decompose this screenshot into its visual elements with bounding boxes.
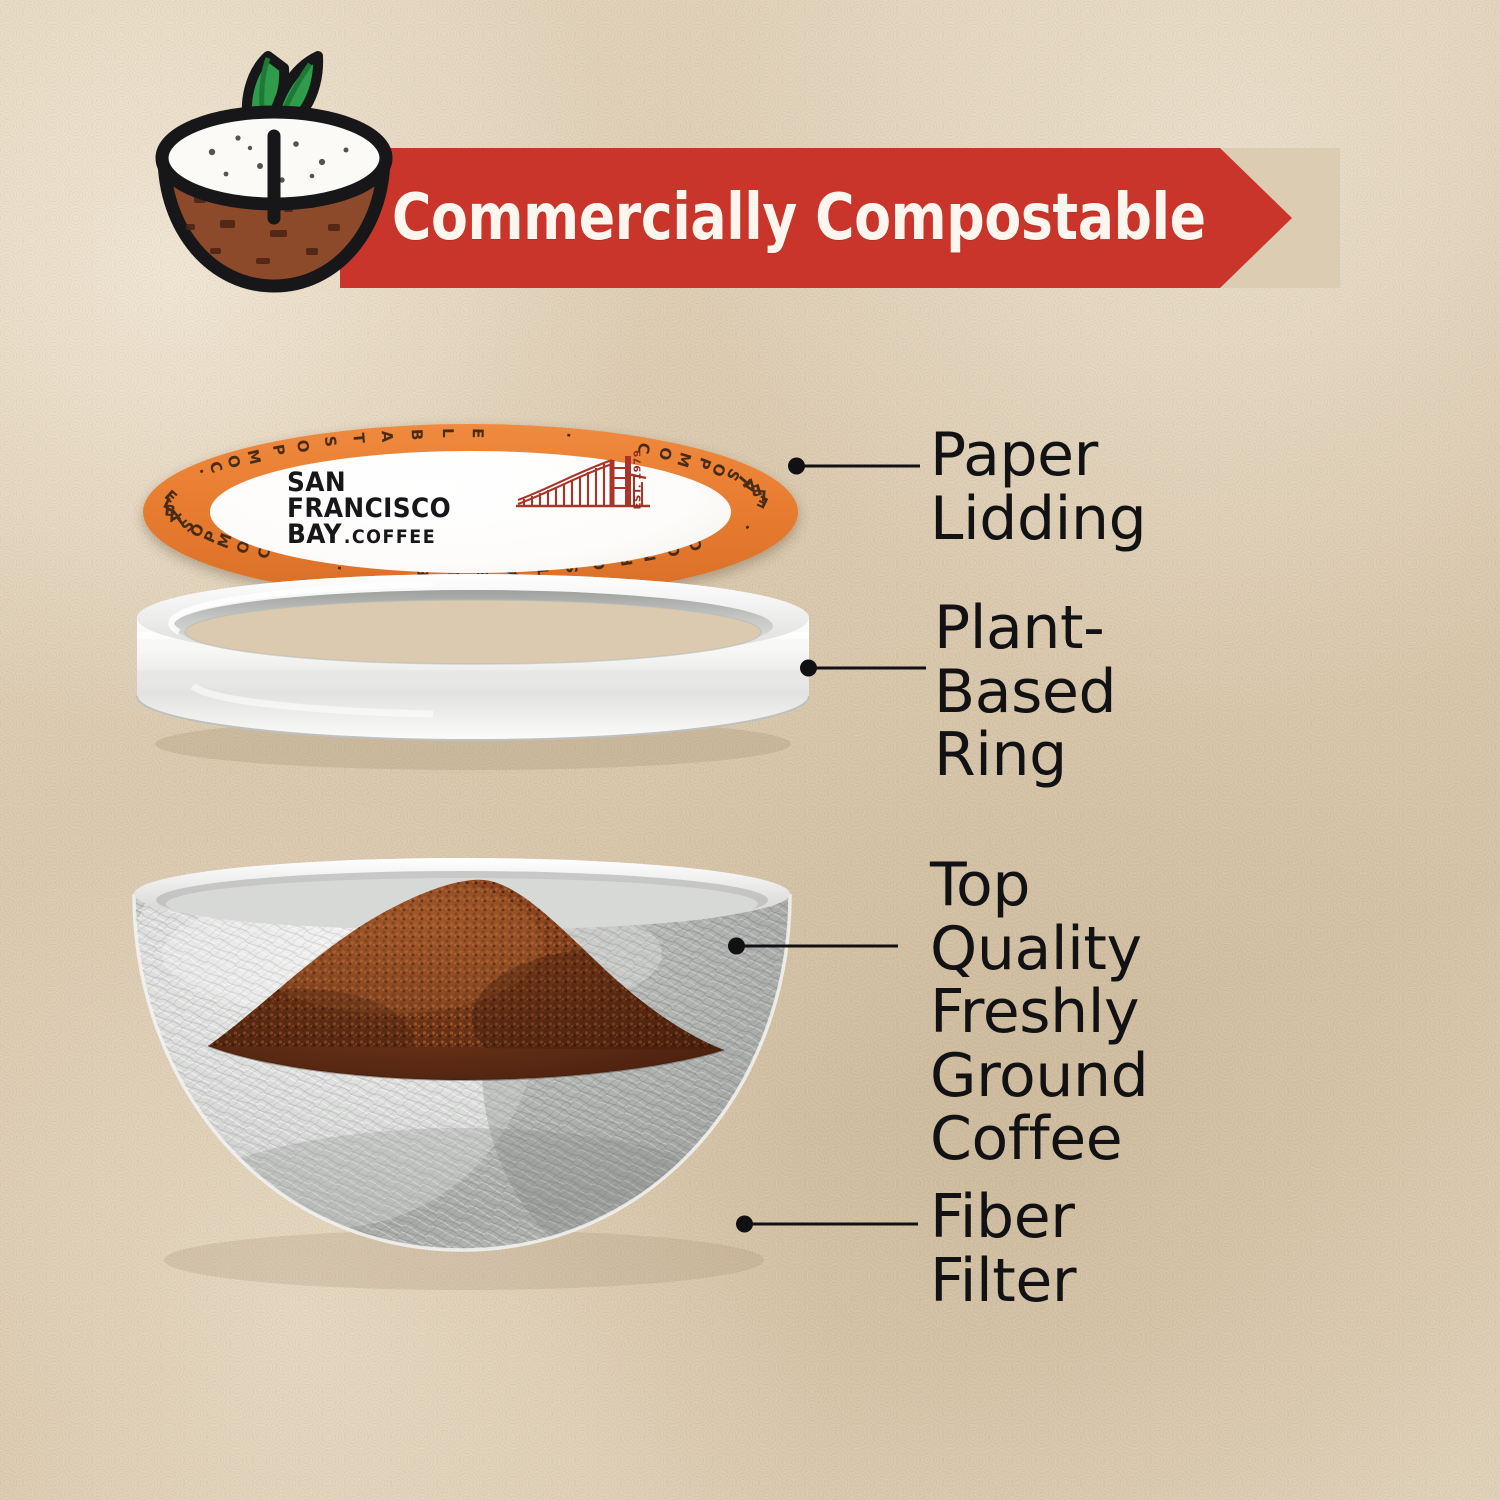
ring-text-char: ·	[738, 520, 757, 534]
leader-stroke	[812, 667, 926, 670]
leader-line-paper-lidding	[788, 464, 920, 468]
banner-title: Commercially Compostable	[392, 148, 1088, 288]
ring-text-char: P	[268, 443, 288, 458]
ring-text-char: S	[320, 435, 339, 448]
ring-text-char: T	[349, 432, 368, 444]
brand-coffee-suffix: .COFFEE	[344, 528, 436, 546]
leader-line-top-quality-coffee	[728, 944, 898, 948]
callout-label-paper-lidding: Paper Lidding	[930, 424, 1146, 551]
fiber-filter-with-coffee	[112, 858, 812, 1320]
sf-bay-coffee-logo: EST. 1979 SAN FRANCISCO BAY.COFFEE	[287, 470, 654, 558]
ring-text-char: L	[438, 428, 456, 438]
callout-label-plant-based-ring: Plant-Based Ring	[934, 597, 1116, 788]
established-year: EST. 1979	[632, 449, 643, 509]
ring-text-char: M	[243, 448, 264, 467]
ring-text-char: O	[223, 453, 244, 471]
leader-line-fiber-filter	[736, 1222, 918, 1226]
ring-text-char: B	[407, 429, 425, 442]
ring-text-char: M	[673, 450, 695, 470]
plant-based-ring-component	[133, 574, 813, 782]
ring-text-char: O	[293, 439, 313, 455]
seedling-in-coconut-pot-icon	[150, 34, 400, 302]
compostable-banner: Commercially Compostable	[340, 148, 1340, 288]
leader-line-plant-based-ring	[800, 666, 926, 670]
leader-stroke	[740, 945, 898, 948]
brand-bay-text: BAY	[287, 522, 342, 548]
ring-text-char: A	[377, 430, 396, 443]
ring-text-char: ·	[559, 431, 578, 439]
leader-stroke	[800, 465, 920, 468]
brand-line-bay: BAY.COFFEE	[287, 522, 624, 548]
callout-label-top-quality-coffee: Top Quality Freshly Ground Coffee	[930, 854, 1148, 1172]
callout-label-fiber-filter: Fiber Filter	[930, 1186, 1076, 1313]
ring-text-char: E	[468, 428, 486, 439]
leader-stroke	[748, 1223, 918, 1226]
infographic-canvas: Commercially Compostable	[0, 0, 1500, 1500]
ring-text-char: ·	[192, 465, 211, 478]
ring-text-char: O	[654, 445, 675, 462]
